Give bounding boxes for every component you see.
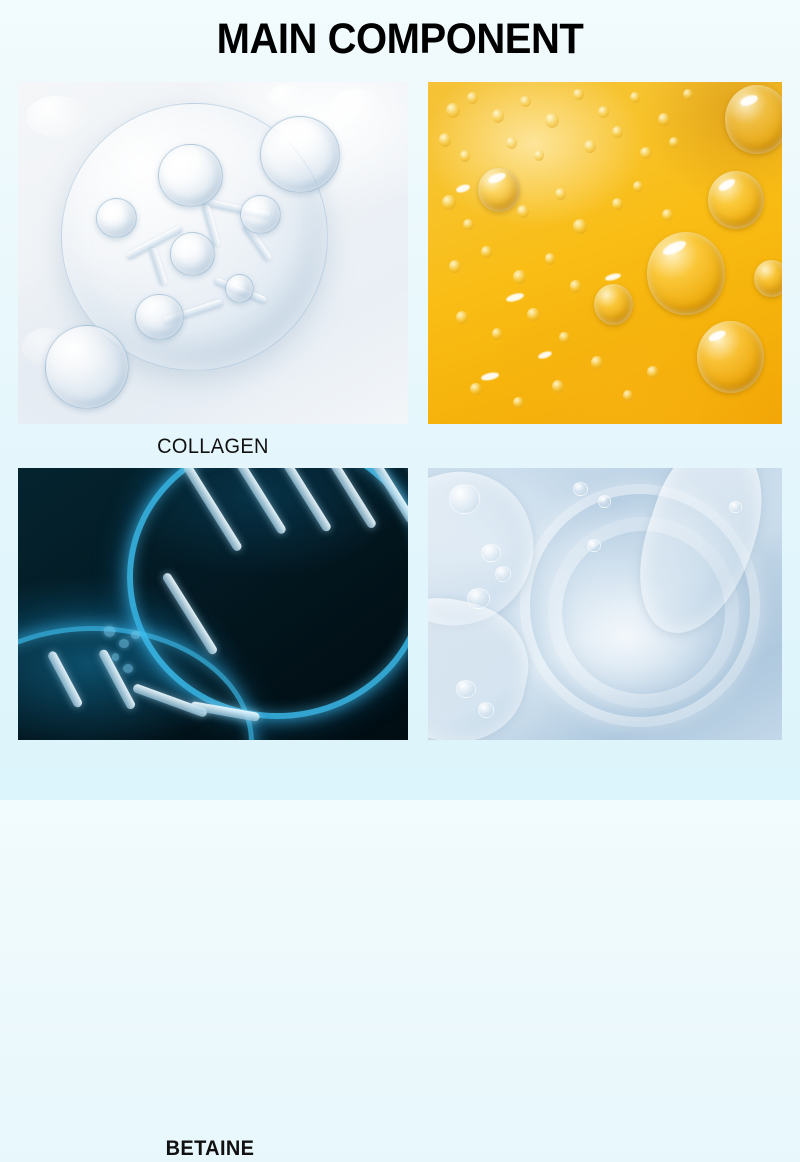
component-grid: COLLAGEN <box>0 80 800 800</box>
collagen-atom <box>158 144 222 208</box>
component-card-collagen[interactable]: COLLAGEN <box>18 82 408 424</box>
component-card-betaine[interactable]: BETAINE <box>18 468 408 740</box>
collagen-image <box>18 82 408 424</box>
collagen-satellite-bubble <box>260 116 340 193</box>
betaine-image <box>18 468 408 740</box>
hyaluronic-acid-image <box>428 468 782 740</box>
collagen-atom <box>170 232 215 275</box>
collagen-satellite-bubble <box>45 325 129 409</box>
component-label-betaine: BETAINE <box>45 1136 376 1162</box>
component-card-glycerin[interactable]: GLYCERIN <box>428 82 782 424</box>
collagen-atom <box>96 198 137 238</box>
page-title: MAIN COMPONENT <box>28 14 772 64</box>
main-component-infographic: MAIN COMPONENT <box>0 0 800 800</box>
collagen-atom <box>225 274 254 303</box>
collagen-atom <box>135 294 184 340</box>
component-label-collagen: COLLAGEN <box>45 434 381 460</box>
component-card-hyaluronic-acid[interactable]: HYALURONIC ACID <box>428 468 782 740</box>
glycerin-image <box>428 82 782 424</box>
